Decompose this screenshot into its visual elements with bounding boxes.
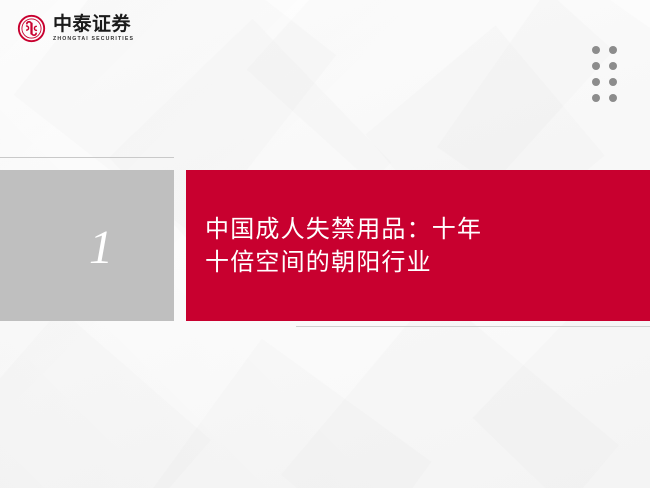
- dot: [592, 62, 600, 70]
- dot: [592, 78, 600, 86]
- section-title-block: 中国成人失禁用品：十年 十倍空间的朝阳行业: [186, 170, 650, 321]
- logo-wordmark: 中泰证券 ZHONGTAI SECURITIES: [53, 15, 134, 42]
- dot: [592, 46, 600, 54]
- dot: [609, 78, 617, 86]
- dot: [609, 46, 617, 54]
- background-polygon: [0, 309, 211, 488]
- section-title-line-2: 十倍空间的朝阳行业: [186, 246, 650, 278]
- section-number: 1: [89, 224, 113, 272]
- zhongtai-circular-emblem-icon: [17, 14, 46, 43]
- section-title-line-1: 中国成人失禁用品：十年: [186, 213, 650, 245]
- logo-name-cn: 中泰证券: [53, 15, 134, 34]
- dot: [609, 94, 617, 102]
- section-number-block: 1: [0, 170, 174, 321]
- slide-canvas: 中泰证券 ZHONGTAI SECURITIES 1 中国成人失禁用品：十年 十…: [0, 0, 650, 488]
- background-polygon: [138, 338, 431, 488]
- dot-grid-decoration: [592, 46, 617, 102]
- divider-above-number-block: [0, 157, 174, 158]
- divider-below-title-block: [296, 326, 650, 327]
- dot: [609, 62, 617, 70]
- dot: [592, 94, 600, 102]
- logo-name-en: ZHONGTAI SECURITIES: [53, 37, 134, 42]
- company-logo: 中泰证券 ZHONGTAI SECURITIES: [17, 14, 134, 43]
